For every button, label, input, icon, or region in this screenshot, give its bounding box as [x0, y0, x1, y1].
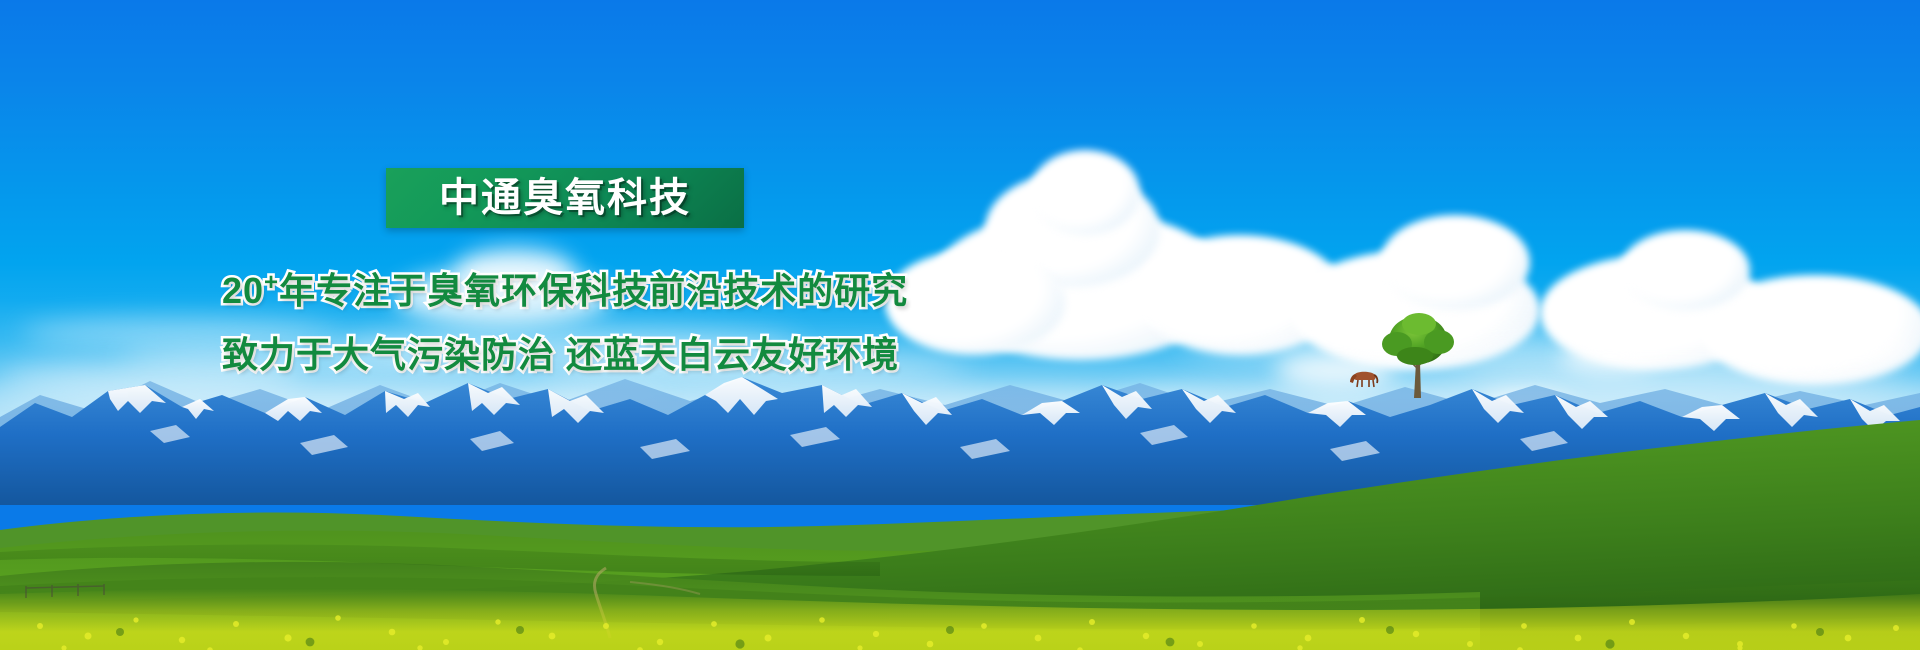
tagline-1-number: 20	[222, 270, 264, 311]
tagline-1-rest: 年专注于臭氧环保科技前沿技术的研究	[279, 270, 908, 311]
grazing-horse	[1348, 366, 1382, 388]
lone-tree	[1375, 310, 1461, 400]
tagline-line-1: 20+年专注于臭氧环保科技前沿技术的研究	[222, 262, 908, 314]
brand-title-text: 中通臭氧科技	[439, 178, 691, 218]
horse-body	[1354, 372, 1376, 380]
brand-title-badge[interactable]: 中通臭氧科技	[386, 168, 744, 228]
cumulus-cloud-main-peak	[1030, 150, 1140, 235]
cumulus-cloud-right-b	[1380, 215, 1530, 310]
tree-canopy-lobe-bottom	[1397, 347, 1433, 365]
tagline-line-2: 致力于大气污染防治 还蓝天白云友好环境	[222, 326, 899, 378]
horse-legs	[1357, 380, 1374, 387]
meadow-landscape	[0, 380, 1920, 650]
hero-banner: 中通臭氧科技 20+年专注于臭氧环保科技前沿技术的研究 致力于大气污染防治 还蓝…	[0, 0, 1920, 650]
tree-canopy-lobe-top	[1402, 313, 1436, 335]
cumulus-cloud-right-e	[1620, 230, 1750, 310]
tagline-1-superscript: +	[264, 269, 279, 296]
